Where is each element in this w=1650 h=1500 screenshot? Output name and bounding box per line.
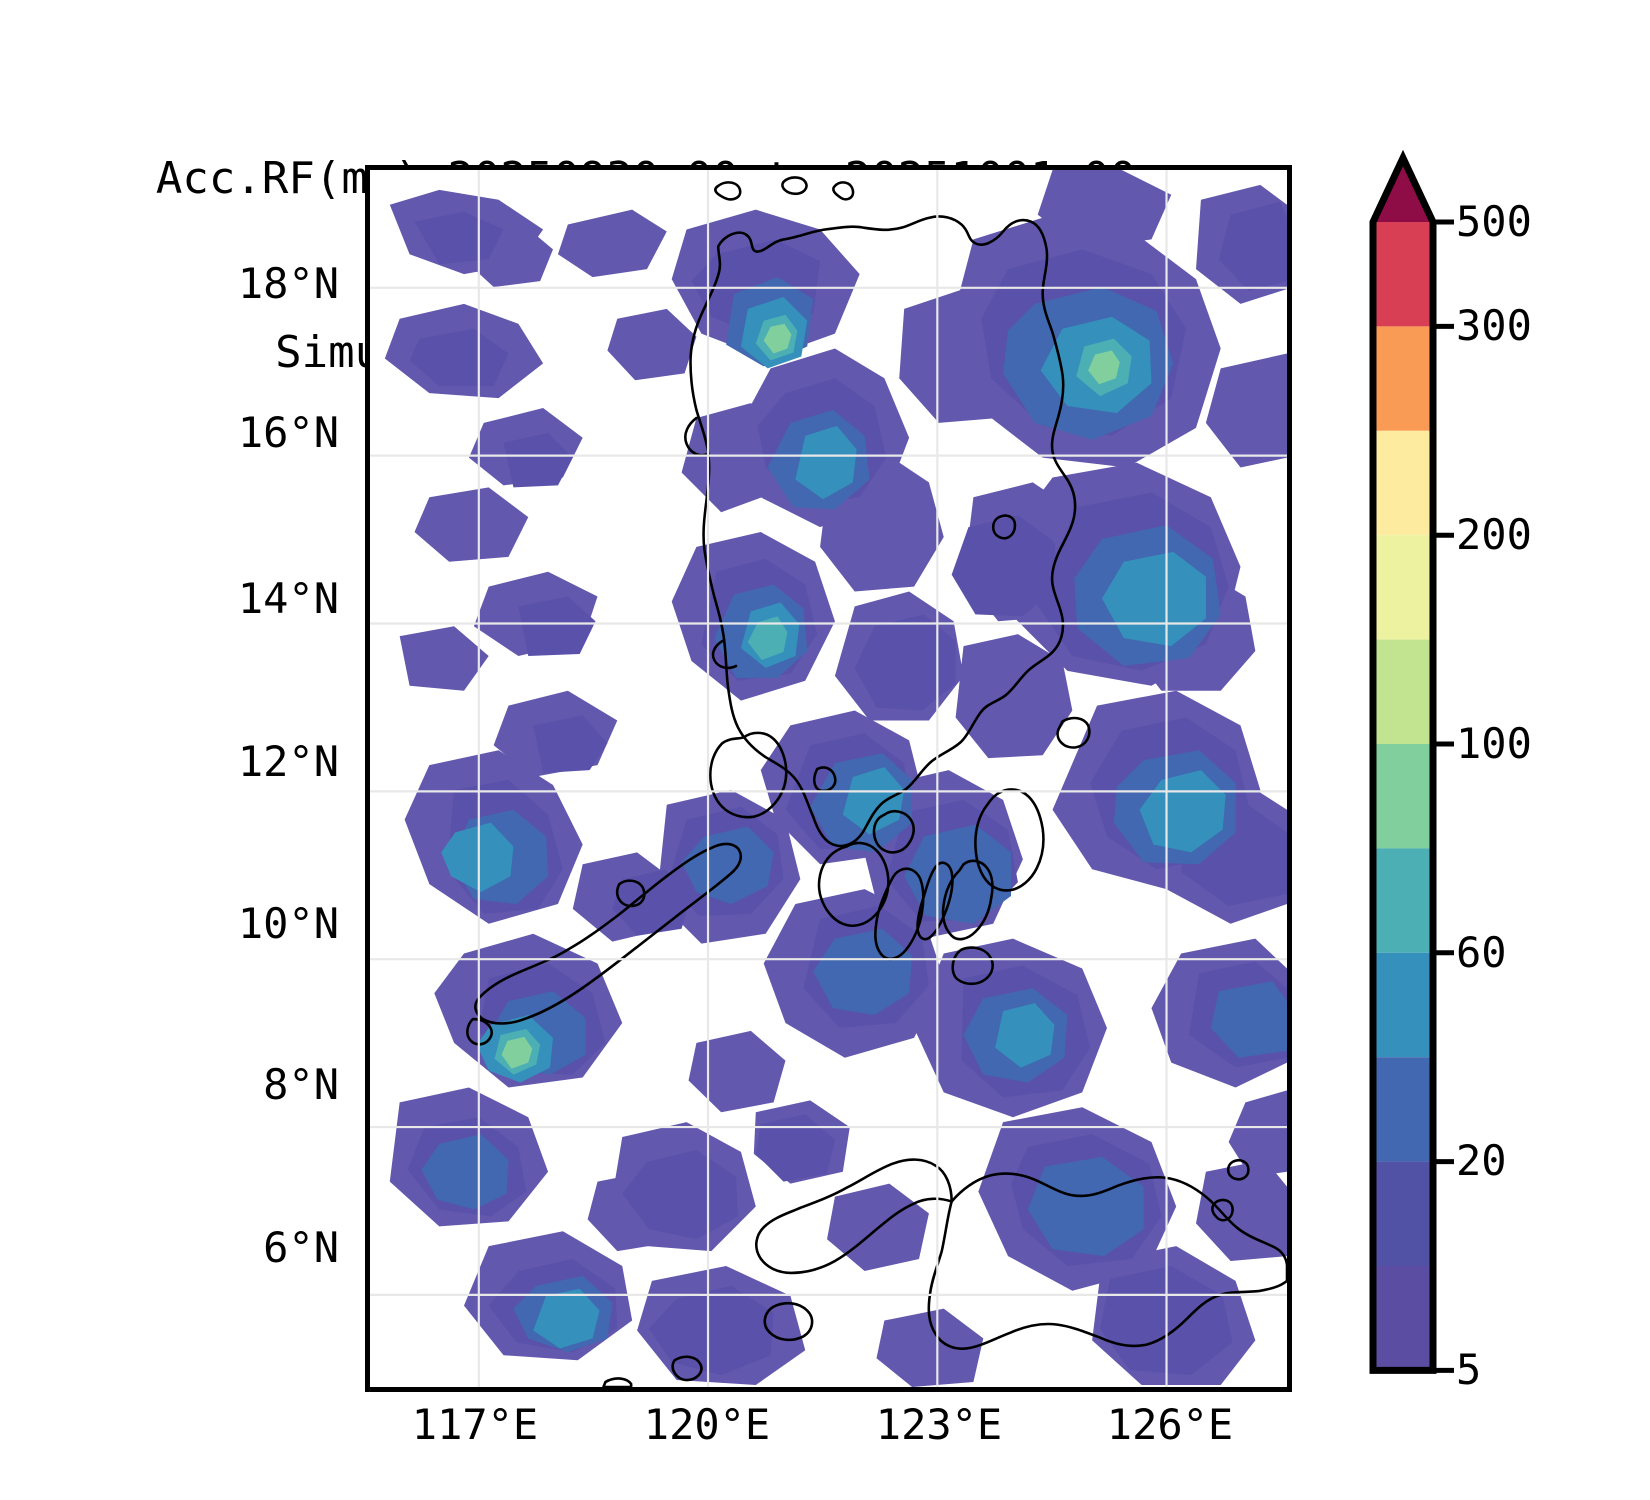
colorbar-band-150-200 <box>1373 640 1433 744</box>
colorbar-tick-label-100: 100 <box>1456 723 1532 765</box>
colorbar-band-100-150 <box>1373 744 1433 848</box>
colorbar-tick-label-500: 500 <box>1456 201 1532 243</box>
colorbar-bands <box>1373 158 1433 1370</box>
colorbar-band-300-400 <box>1373 326 1433 430</box>
colorbar-band-60-80 <box>1373 953 1433 1057</box>
y-tick-label-10N: 10°N <box>139 903 339 945</box>
colorbar-tick-label-20: 20 <box>1456 1140 1507 1182</box>
x-tick-label-126E: 126°E <box>1040 1404 1300 1446</box>
colorbar-tick-label-200: 200 <box>1456 514 1532 556</box>
colorbar-over-arrow <box>1373 158 1433 222</box>
colorbar-tick-label-300: 300 <box>1456 305 1532 347</box>
colorbar-band-40-60 <box>1373 1057 1433 1161</box>
map-plot-area <box>365 165 1292 1392</box>
colorbar: 500 300 200 100 60 20 5 <box>1368 150 1650 1390</box>
colorbar-band-250-300 <box>1373 431 1433 535</box>
y-tick-label-8N: 8°N <box>139 1064 339 1106</box>
colorbar-band-400-500 <box>1373 222 1433 326</box>
rainfall-map <box>370 170 1287 1387</box>
colorbar-tick-label-5: 5 <box>1456 1349 1481 1391</box>
x-tick-label-123E: 123°E <box>809 1404 1069 1446</box>
y-tick-label-18N: 18°N <box>139 263 339 305</box>
colorbar-tick-label-60: 60 <box>1456 932 1507 974</box>
y-tick-label-12N: 12°N <box>139 741 339 783</box>
colorbar-band-20-40 <box>1373 1162 1433 1266</box>
y-tick-label-6N: 6°N <box>139 1227 339 1269</box>
colorbar-band-80-100 <box>1373 848 1433 952</box>
x-tick-label-120E: 120°E <box>577 1404 837 1446</box>
y-tick-label-14N: 14°N <box>139 578 339 620</box>
y-tick-label-16N: 16°N <box>139 412 339 454</box>
colorbar-band-200-250 <box>1373 535 1433 639</box>
x-tick-label-117E: 117°E <box>345 1404 605 1446</box>
colorbar-band-5-20 <box>1373 1266 1433 1370</box>
